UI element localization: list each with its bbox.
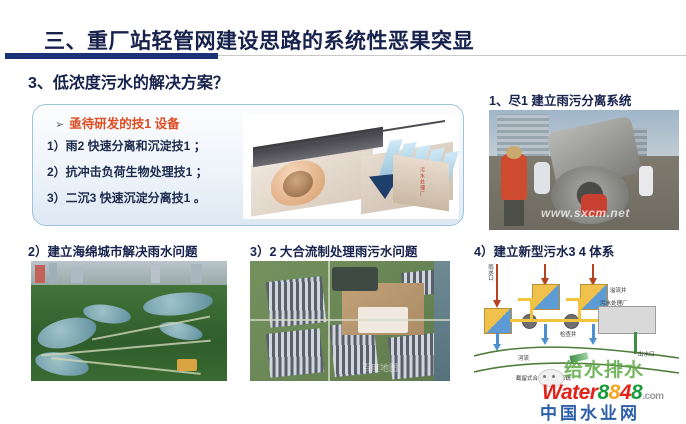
panel-3-caption: 3）2 大合流制处理雨污水问题 [250, 241, 417, 260]
site-watermark: 给水排水 Water8848.com 中国水业网 [524, 355, 684, 417]
panel-2-caption: 2）建立海绵城市解决雨水问题 [28, 241, 197, 260]
infobox-item: 1）雨2 快速分离和沉淀技1 ； [47, 137, 206, 154]
section-question: 3、低浓度污水的解决方案？ [28, 69, 229, 93]
solutions-infobox: ➢亟待研发的技1 设备 1）雨2 快速分离和沉淀技1 ； 2）抗冲击负荷生物处理… [32, 104, 464, 226]
panel-2-photo [31, 261, 227, 381]
diagram-label-inspection-well: 检查井 [560, 330, 577, 338]
infobox-item: 3）二沉3 快速沉淀分离技1 。 [47, 189, 206, 206]
diagram-plant-block [598, 306, 656, 334]
header-rule-accent [5, 53, 218, 59]
panel-1-watermark: www.sxcm.net [541, 206, 630, 220]
page-title: 三、重厂站轻管网建设思路的系统性恶果突显 [44, 25, 474, 55]
panel-3-watermark: 百度地图 [362, 361, 398, 374]
treatment-plant-3d-render: 污水处理厂 [243, 115, 459, 219]
infobox-heading: ➢亟待研发的技1 设备 [55, 113, 180, 132]
brand-com: .com [642, 391, 663, 402]
diagram-label-treatment-plant: 污水处理厂 [600, 299, 628, 307]
infobox-item: 2）抗冲击负荷生物处理技1 ； [47, 163, 208, 180]
watermark-cn-blue: 中国水业网 [540, 399, 640, 424]
panel-1-caption: 1、尽1 建立雨污分离系统 [489, 90, 631, 109]
arrow-bullet-icon: ➢ [55, 119, 64, 131]
diagram-label-inlet: 雨水口 [486, 264, 494, 281]
panel-3-photo: 百度地图 [250, 261, 450, 381]
watermark-cn-green: 给水排水 [564, 355, 644, 382]
render-label: 污水处理厂 [419, 167, 426, 197]
panel-1-photo: www.sxcm.net [489, 110, 679, 230]
diagram-label-overflow-well: 溢流井 [610, 286, 627, 294]
infobox-heading-text: 亟待研发的技1 设备 [69, 117, 179, 131]
slide-root: 三、重厂站轻管网建设思路的系统性恶果突显 3、低浓度污水的解决方案？ ➢亟待研发… [0, 0, 686, 424]
header-rule-light [218, 55, 686, 56]
